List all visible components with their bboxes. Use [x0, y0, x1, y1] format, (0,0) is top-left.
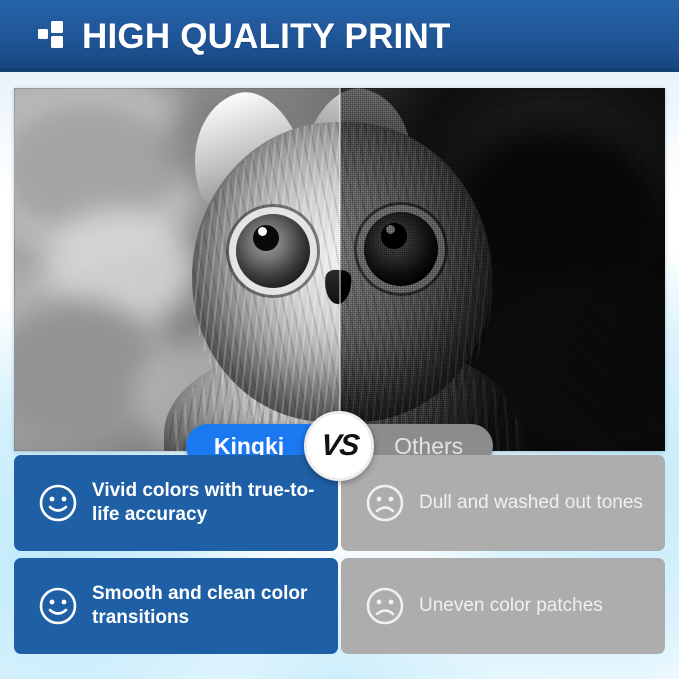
comparison-text: Dull and washed out tones	[419, 491, 643, 515]
vs-badge: VS	[304, 411, 374, 481]
smiley-face-icon	[38, 483, 78, 523]
comparison-text: Smooth and clean color transitions	[92, 582, 322, 631]
comparison-card-good-1: Vivid colors with true-to-life accuracy	[14, 455, 338, 551]
comparison-text: Vivid colors with true-to-life accuracy	[92, 479, 322, 528]
comparison-card-bad-1: Dull and washed out tones	[341, 455, 665, 551]
hero-half-good	[14, 88, 340, 451]
comparison-card-good-2: Smooth and clean color transitions	[14, 558, 338, 654]
vs-label: VS	[319, 429, 360, 463]
sad-face-icon	[365, 483, 405, 523]
sad-face-icon	[365, 586, 405, 626]
owl-photo-clean	[14, 88, 340, 451]
smiley-face-icon	[38, 586, 78, 626]
promo-graphic: HIGH QUALITY PRINT	[0, 0, 679, 679]
hero-half-bad	[340, 88, 666, 451]
pixel-squares-icon	[38, 21, 66, 49]
comparison-card-bad-2: Uneven color patches	[341, 558, 665, 654]
owl-photo-degraded	[340, 88, 666, 451]
page-title: HIGH QUALITY PRINT	[82, 19, 451, 54]
header-banner: HIGH QUALITY PRINT	[0, 0, 679, 72]
comparison-text: Uneven color patches	[419, 594, 603, 618]
hero-comparison-image	[14, 88, 665, 451]
comparison-grid: Vivid colors with true-to-life accuracy …	[14, 455, 665, 654]
hero-split-divider	[339, 88, 341, 451]
